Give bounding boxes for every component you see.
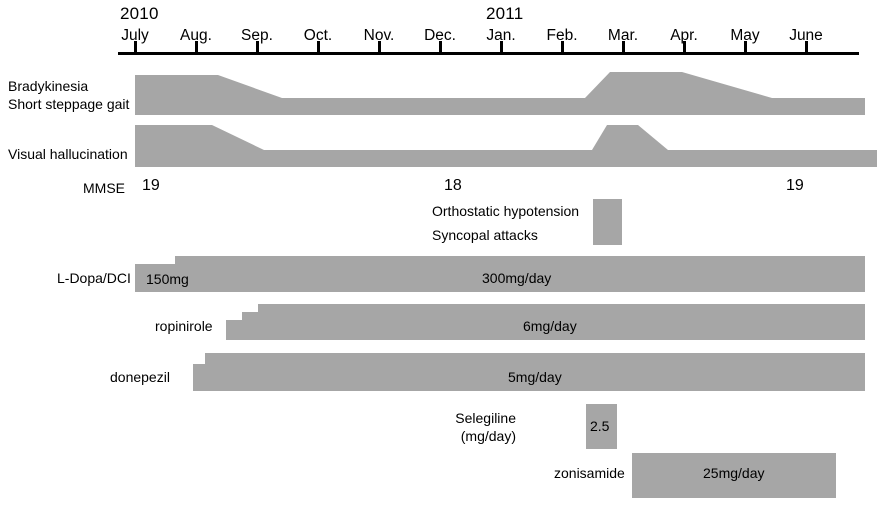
medication-dose-l-dopa-start: 150mg <box>146 271 189 287</box>
medication-label-selegiline-line1: Selegiline <box>440 410 516 427</box>
medication-dose-selegiline: 2.5 <box>590 418 609 434</box>
medication-dose-l-dopa: 300mg/day <box>482 270 551 286</box>
mmse-label: MMSE <box>83 180 125 196</box>
tick-dec <box>439 41 442 52</box>
tick-apr <box>683 41 686 52</box>
mmse-value-3: 19 <box>786 177 804 195</box>
tick-mar <box>622 41 625 52</box>
mmse-value-1: 19 <box>142 177 160 195</box>
medication-dose-donepezil: 5mg/day <box>508 369 562 385</box>
tick-june <box>805 41 808 52</box>
medication-bar-l-dopa-dci <box>0 255 877 295</box>
tick-feb <box>561 41 564 52</box>
severity-band-visual-hallucination <box>0 120 877 172</box>
tick-sep <box>256 41 259 52</box>
tick-oct <box>317 41 320 52</box>
medication-bar-donepezil <box>0 352 877 394</box>
medication-label-selegiline-line2: (mg/day) <box>440 428 516 445</box>
tick-may <box>744 41 747 52</box>
clinical-timeline-figure: 2010 2011 July Aug. Sep. Oct. Nov. Dec. … <box>0 0 877 509</box>
mmse-value-2: 18 <box>444 177 462 195</box>
adverse-event-label-line2: Syncopal attacks <box>432 227 538 244</box>
adverse-event-label-line1: Orthostatic hypotension <box>432 203 579 220</box>
tick-nov <box>378 41 381 52</box>
timeline-axis <box>118 52 859 55</box>
tick-jan <box>500 41 503 52</box>
adverse-event-bar-orthostatic-hypotension <box>593 199 622 245</box>
severity-band-bradykinesia <box>0 60 877 120</box>
year-label-2011: 2011 <box>486 4 523 24</box>
tick-aug <box>195 41 198 52</box>
tick-july <box>134 41 137 52</box>
medication-label-zonisamide: zonisamide <box>554 465 625 482</box>
year-label-2010: 2010 <box>120 4 159 24</box>
medication-dose-zonisamide: 25mg/day <box>703 465 764 481</box>
medication-dose-ropinirole: 6mg/day <box>523 318 577 334</box>
medication-bar-ropinirole <box>0 303 877 343</box>
